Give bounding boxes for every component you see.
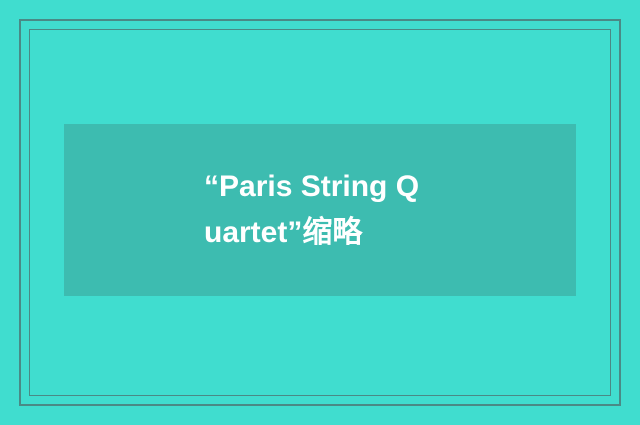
title-text: “Paris String Quartet”缩略 <box>204 164 436 256</box>
title-panel: “Paris String Quartet”缩略 <box>64 124 576 296</box>
thumbnail-canvas: “Paris String Quartet”缩略 <box>0 0 640 425</box>
